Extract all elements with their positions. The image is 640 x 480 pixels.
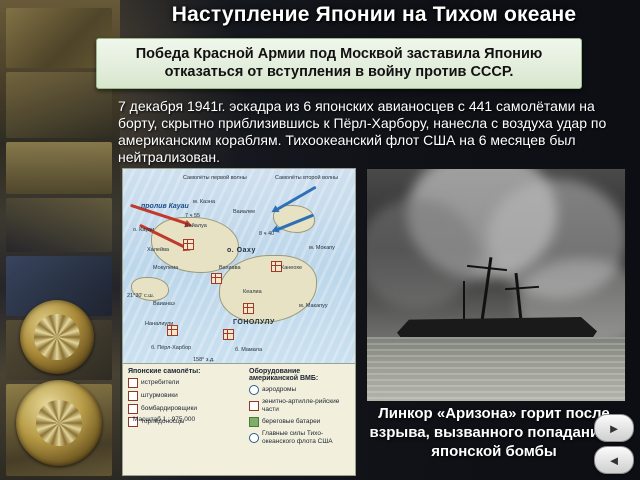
map-marker xyxy=(223,329,234,340)
map-label: о. Оаху xyxy=(227,247,256,254)
map-label: Самолёты второй волны xyxy=(275,175,338,181)
slide-navigation[interactable]: ► ◄ xyxy=(594,414,634,474)
map-legend: Японские самолёты: истребители штурмовик… xyxy=(123,363,355,475)
map-label: б. Мамала xyxy=(235,347,262,353)
map-label: Наналиули xyxy=(145,321,173,327)
legend-label: береговые батареи xyxy=(262,418,320,426)
legend-label: Главные силы Тихо-океанского флота США xyxy=(262,430,351,446)
body-paragraph: 7 декабря 1941г. эскадра из 6 японских а… xyxy=(118,98,618,166)
legend-item: штурмовики xyxy=(128,391,246,401)
legend-label: аэродромы xyxy=(262,386,296,394)
smoke-plume xyxy=(366,199,477,309)
legend-label: штурмовики xyxy=(141,392,178,400)
map-marker xyxy=(211,273,222,284)
photo-caption: Линкор «Аризона» горит после взрыва, выз… xyxy=(360,404,628,461)
map-scale: Масштаб 1 : 975 000 xyxy=(133,416,195,423)
photo-uss-arizona xyxy=(366,168,626,402)
map-label: Канеохе xyxy=(281,265,302,271)
map-legend-us-base: Оборудование американской ВМБ: аэродромы… xyxy=(249,368,351,446)
medal-icon xyxy=(20,300,94,374)
legend-label: истребители xyxy=(141,379,179,387)
map-label: Халейва xyxy=(147,247,169,253)
map-label: Ваианаэ xyxy=(153,301,175,307)
map-label: Ваиалее xyxy=(233,209,255,215)
map-label: Вайалуа xyxy=(185,223,207,229)
legend-item: береговые батареи xyxy=(249,417,351,427)
legend-title-planes: Японские самолёты: xyxy=(128,368,200,375)
map-label: о. Кауаи xyxy=(133,227,154,233)
legend-item: Главные силы Тихо-океанского флота США xyxy=(249,430,351,446)
airfield-icon xyxy=(249,385,259,395)
fleet-icon xyxy=(249,433,259,443)
map-marker xyxy=(183,239,194,250)
map-label: 21°30' с.ш. xyxy=(127,293,154,299)
map-label: 7 ч 55 xyxy=(185,213,200,219)
map-label: Кеалиа xyxy=(243,289,262,295)
legend-item: истребители xyxy=(128,378,246,388)
map-label: 8 ч 40 xyxy=(259,231,274,237)
prev-slide-button[interactable]: ◄ xyxy=(594,446,634,474)
coastal-battery-icon xyxy=(249,417,259,427)
medal-icon xyxy=(16,380,102,466)
decor-band xyxy=(6,198,112,252)
map-label: Мокулеиа xyxy=(153,265,178,271)
legend-item: бомбардировщики xyxy=(128,404,246,414)
map-label: м. Мокапу xyxy=(309,245,335,251)
bomber-icon xyxy=(128,404,138,414)
legend-item: зенитно-артилле-рийские части xyxy=(249,398,351,414)
map-label: Вахиава xyxy=(219,265,241,271)
map-label: м. Каэна xyxy=(193,199,215,205)
fighter-icon xyxy=(128,378,138,388)
attack-plane-icon xyxy=(128,391,138,401)
callout-box: Победа Красной Армии под Москвой застави… xyxy=(96,38,582,89)
legend-title-usn: Оборудование американской ВМБ: xyxy=(249,368,318,382)
map-image: Самолёты первой волныСамолёты второй вол… xyxy=(122,168,356,476)
next-slide-button[interactable]: ► xyxy=(594,414,634,442)
legend-label: бомбардировщики xyxy=(141,405,197,413)
decor-band xyxy=(6,142,112,194)
map-label: пролив Кауаи xyxy=(141,203,189,210)
water-surface xyxy=(367,337,625,401)
legend-item: аэродромы xyxy=(249,385,351,395)
map-marker xyxy=(243,303,254,314)
page-title: Наступление Японии на Тихом океане xyxy=(118,2,630,27)
map-label: Самолёты первой волны xyxy=(183,175,247,181)
ship-mast xyxy=(463,281,465,319)
map-label: ГОНОЛУЛУ xyxy=(233,319,275,326)
aa-battery-icon xyxy=(249,401,259,411)
map-label: м. Макапуу xyxy=(299,303,328,309)
legend-label: зенитно-артилле-рийские части xyxy=(262,398,351,414)
slide: Наступление Японии на Тихом океане Побед… xyxy=(0,0,640,480)
map-label: б. Пёрл-Харбор xyxy=(151,345,191,351)
map-legend-japanese-planes: Японские самолёты: истребители штурмовик… xyxy=(128,368,246,427)
